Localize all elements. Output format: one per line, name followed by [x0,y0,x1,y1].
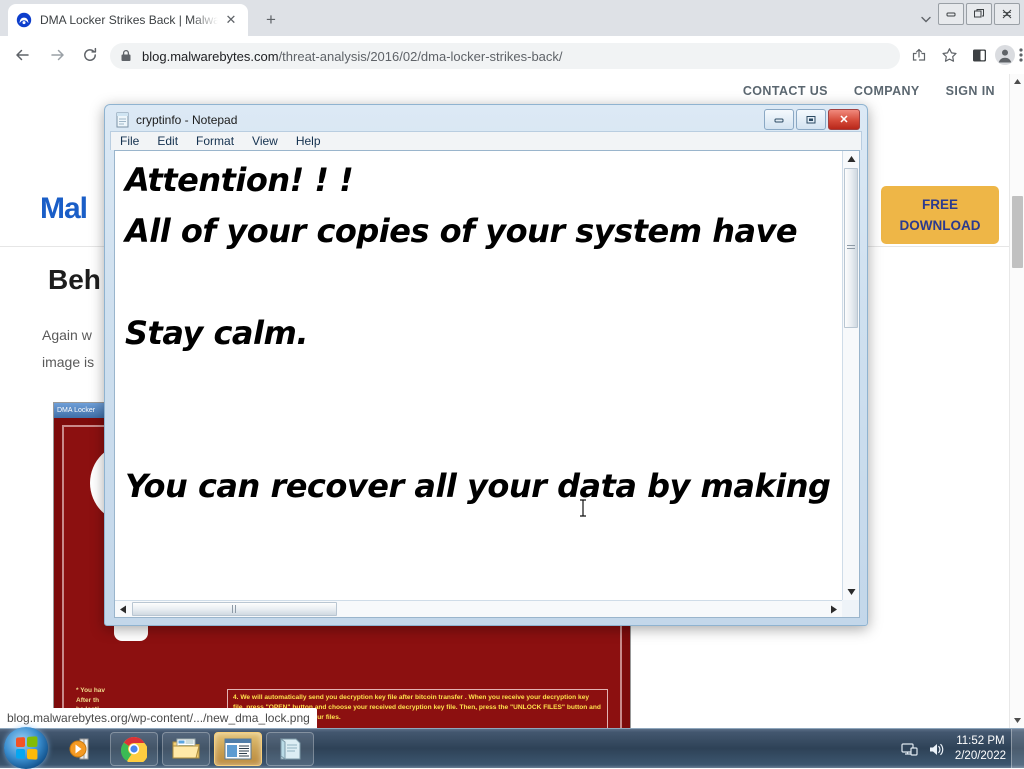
start-orb[interactable] [4,727,48,769]
back-arrow-icon[interactable] [8,41,36,69]
notepad-line-5 [125,359,860,410]
notepad-line-4: Stay calm. [125,308,860,359]
system-tray: 11:52 PM 2/20/2022 [901,729,1006,769]
notepad-text-area[interactable]: Attention! ! ! All of your copies of you… [125,155,860,618]
menu-item-file[interactable]: File [120,134,139,148]
scrollbar-grip-icon [232,605,238,613]
notepad-maximize-button[interactable] [796,109,826,130]
menu-item-help[interactable]: Help [296,134,321,148]
nav-link-sign-in[interactable]: SIGN IN [946,84,995,98]
free-download-line2: DOWNLOAD [900,218,981,233]
tab-close-icon[interactable]: ✕ [222,11,240,29]
site-top-nav: CONTACT US COMPANY SIGN IN [743,84,995,98]
browser-maximize-icon[interactable] [966,3,992,25]
address-bar[interactable]: blog.malwarebytes.com/threat-analysis/20… [110,43,900,69]
taskbar-clock[interactable]: 11:52 PM 2/20/2022 [955,734,1006,764]
menu-item-edit[interactable]: Edit [157,134,178,148]
share-icon[interactable] [906,42,932,68]
notepad-close-button[interactable]: ✕ [828,109,860,130]
menu-item-format[interactable]: Format [196,134,234,148]
taskbar-item-explorer[interactable] [162,732,210,766]
free-download-line1: FREE [922,197,958,212]
free-download-button[interactable]: FREE DOWNLOAD [881,186,999,244]
browser-tab-title: DMA Locker Strikes Back | Malwa [40,13,218,27]
dma-bullet-2: After th [76,696,226,705]
network-icon[interactable] [901,740,919,758]
reload-icon[interactable] [76,41,104,69]
windows-logo-icon [16,736,37,760]
scroll-down-arrow-icon[interactable] [1010,713,1024,728]
browser-tab[interactable]: DMA Locker Strikes Back | Malwa ✕ [8,4,248,36]
taskbar-items [58,732,314,766]
scroll-left-arrow-icon[interactable] [115,601,131,617]
forward-arrow-icon[interactable] [44,41,72,69]
article-paragraph-2: image is [42,354,94,370]
taskbar-item-active-window[interactable] [214,732,262,766]
browser-close-icon[interactable] [994,3,1020,25]
notepad-horizontal-scrollbar-thumb[interactable] [132,602,337,616]
notepad-line-7: You can recover all your data by making [125,461,860,512]
notepad-title-text: cryptinfo - Notepad [136,113,237,127]
chrome-menu-icon[interactable] [1014,42,1024,68]
notepad-line-2: All of your copies of your system have [125,206,860,257]
malwarebytes-logo[interactable]: Mal [40,192,87,226]
page-scrollbar[interactable] [1009,74,1024,728]
menu-item-view[interactable]: View [252,134,278,148]
lock-icon [120,49,134,63]
scroll-up-arrow-icon[interactable] [843,151,859,167]
notepad-minimize-button[interactable] [764,109,794,130]
clock-date: 2/20/2022 [955,749,1006,764]
side-panel-icon[interactable] [966,42,992,68]
malwarebytes-favicon [16,12,32,28]
page-scrollbar-thumb[interactable] [1012,196,1023,268]
notepad-title-bar[interactable]: cryptinfo - Notepad ✕ [110,109,862,131]
windows-taskbar: 11:52 PM 2/20/2022 [0,728,1024,768]
browser-toolbar: blog.malwarebytes.com/threat-analysis/20… [0,36,1024,74]
notepad-horizontal-scrollbar[interactable] [115,600,842,617]
taskbar-item-chrome[interactable] [110,732,158,766]
scrollbar-grip-icon [847,245,855,251]
scroll-up-arrow-icon[interactable] [1010,74,1024,89]
clock-time: 11:52 PM [955,734,1006,749]
tab-strip: DMA Locker Strikes Back | Malwa ✕ + [0,0,1024,36]
dma-bullet-1: * You hav [76,686,226,695]
notepad-menu-bar: File Edit Format View Help [110,131,862,150]
browser-window-controls [938,3,1020,25]
notepad-window-buttons: ✕ [764,109,860,130]
notepad-line-3 [125,257,860,308]
scroll-down-arrow-icon[interactable] [843,584,859,600]
article-paragraph-1: Again w [42,327,92,343]
page-title: Beh [48,264,101,296]
notepad-line-8 [125,512,860,563]
notepad-resize-corner[interactable] [842,600,859,617]
url-domain: blog.malwarebytes.com [142,49,279,64]
browser-status-bar: blog.malwarebytes.org/wp-content/.../new… [0,708,317,728]
nav-link-company[interactable]: COMPANY [854,84,920,98]
bookmark-star-icon[interactable] [936,42,962,68]
browser-minimize-icon[interactable] [938,3,964,25]
taskbar-item-notepad[interactable] [266,732,314,766]
scroll-right-arrow-icon[interactable] [826,601,842,617]
nav-link-contact-us[interactable]: CONTACT US [743,84,828,98]
notepad-document-icon [116,112,130,128]
notepad-line-1: Attention! ! ! [125,155,860,206]
notepad-vertical-scrollbar[interactable] [842,151,859,600]
notepad-line-6 [125,410,860,461]
notepad-window[interactable]: cryptinfo - Notepad ✕ File Edit Format V… [104,104,868,626]
url-path: /threat-analysis/2016/02/dma-locker-stri… [279,49,563,64]
tab-search-chevron-down-icon[interactable] [914,8,938,30]
notepad-client-area[interactable]: Attention! ! ! All of your copies of you… [114,150,860,618]
new-tab-button[interactable]: + [258,7,284,33]
taskbar-item-media-player[interactable] [58,732,106,766]
notepad-vertical-scrollbar-thumb[interactable] [844,168,858,328]
show-desktop-button[interactable] [1011,729,1024,769]
volume-icon[interactable] [928,740,946,758]
